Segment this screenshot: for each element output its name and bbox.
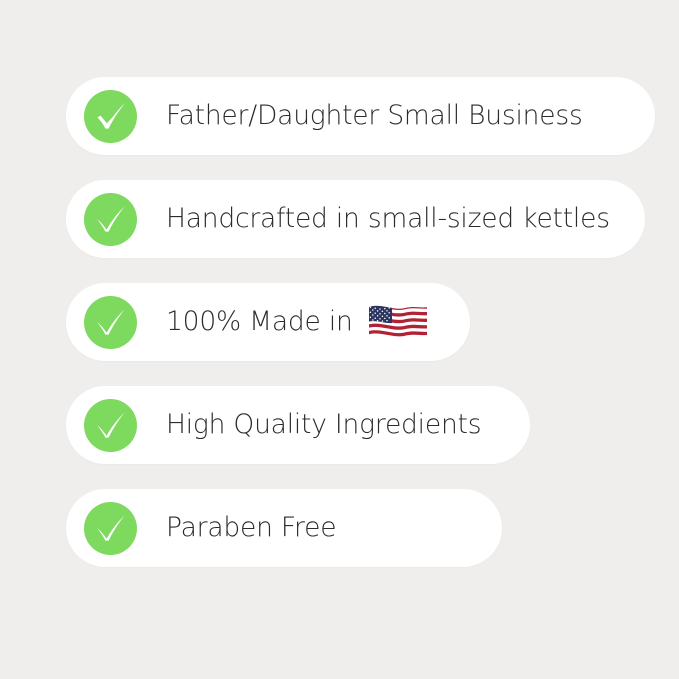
feature-item-label: 100% Made in <box>166 309 353 336</box>
check-circle-icon <box>84 193 137 246</box>
check-circle-icon <box>84 399 137 452</box>
check-circle-icon <box>84 296 137 349</box>
feature-item-handcrafted-small-kettles: Handcrafted in small-sized kettles <box>66 180 645 258</box>
feature-item-paraben-free: Paraben Free <box>66 489 502 567</box>
feature-item-label-wrapper: 100% Made in <box>166 301 429 343</box>
feature-item-label: High Quality Ingredients <box>166 412 481 439</box>
feature-item-father-daughter-small-business: Father/Daughter Small Business <box>66 77 655 155</box>
check-circle-icon <box>84 90 137 143</box>
feature-item-label: Handcrafted in small-sized kettles <box>166 206 610 233</box>
feature-list: Father/Daughter Small Business Handcraft… <box>0 0 679 679</box>
feature-item-label: Father/Daughter Small Business <box>166 103 583 130</box>
check-circle-icon <box>84 502 137 555</box>
us-flag-icon <box>367 302 429 344</box>
feature-item-label: Paraben Free <box>166 515 336 542</box>
feature-item-made-in-usa: 100% Made in <box>66 283 470 361</box>
feature-item-high-quality-ingredients: High Quality Ingredients <box>66 386 530 464</box>
